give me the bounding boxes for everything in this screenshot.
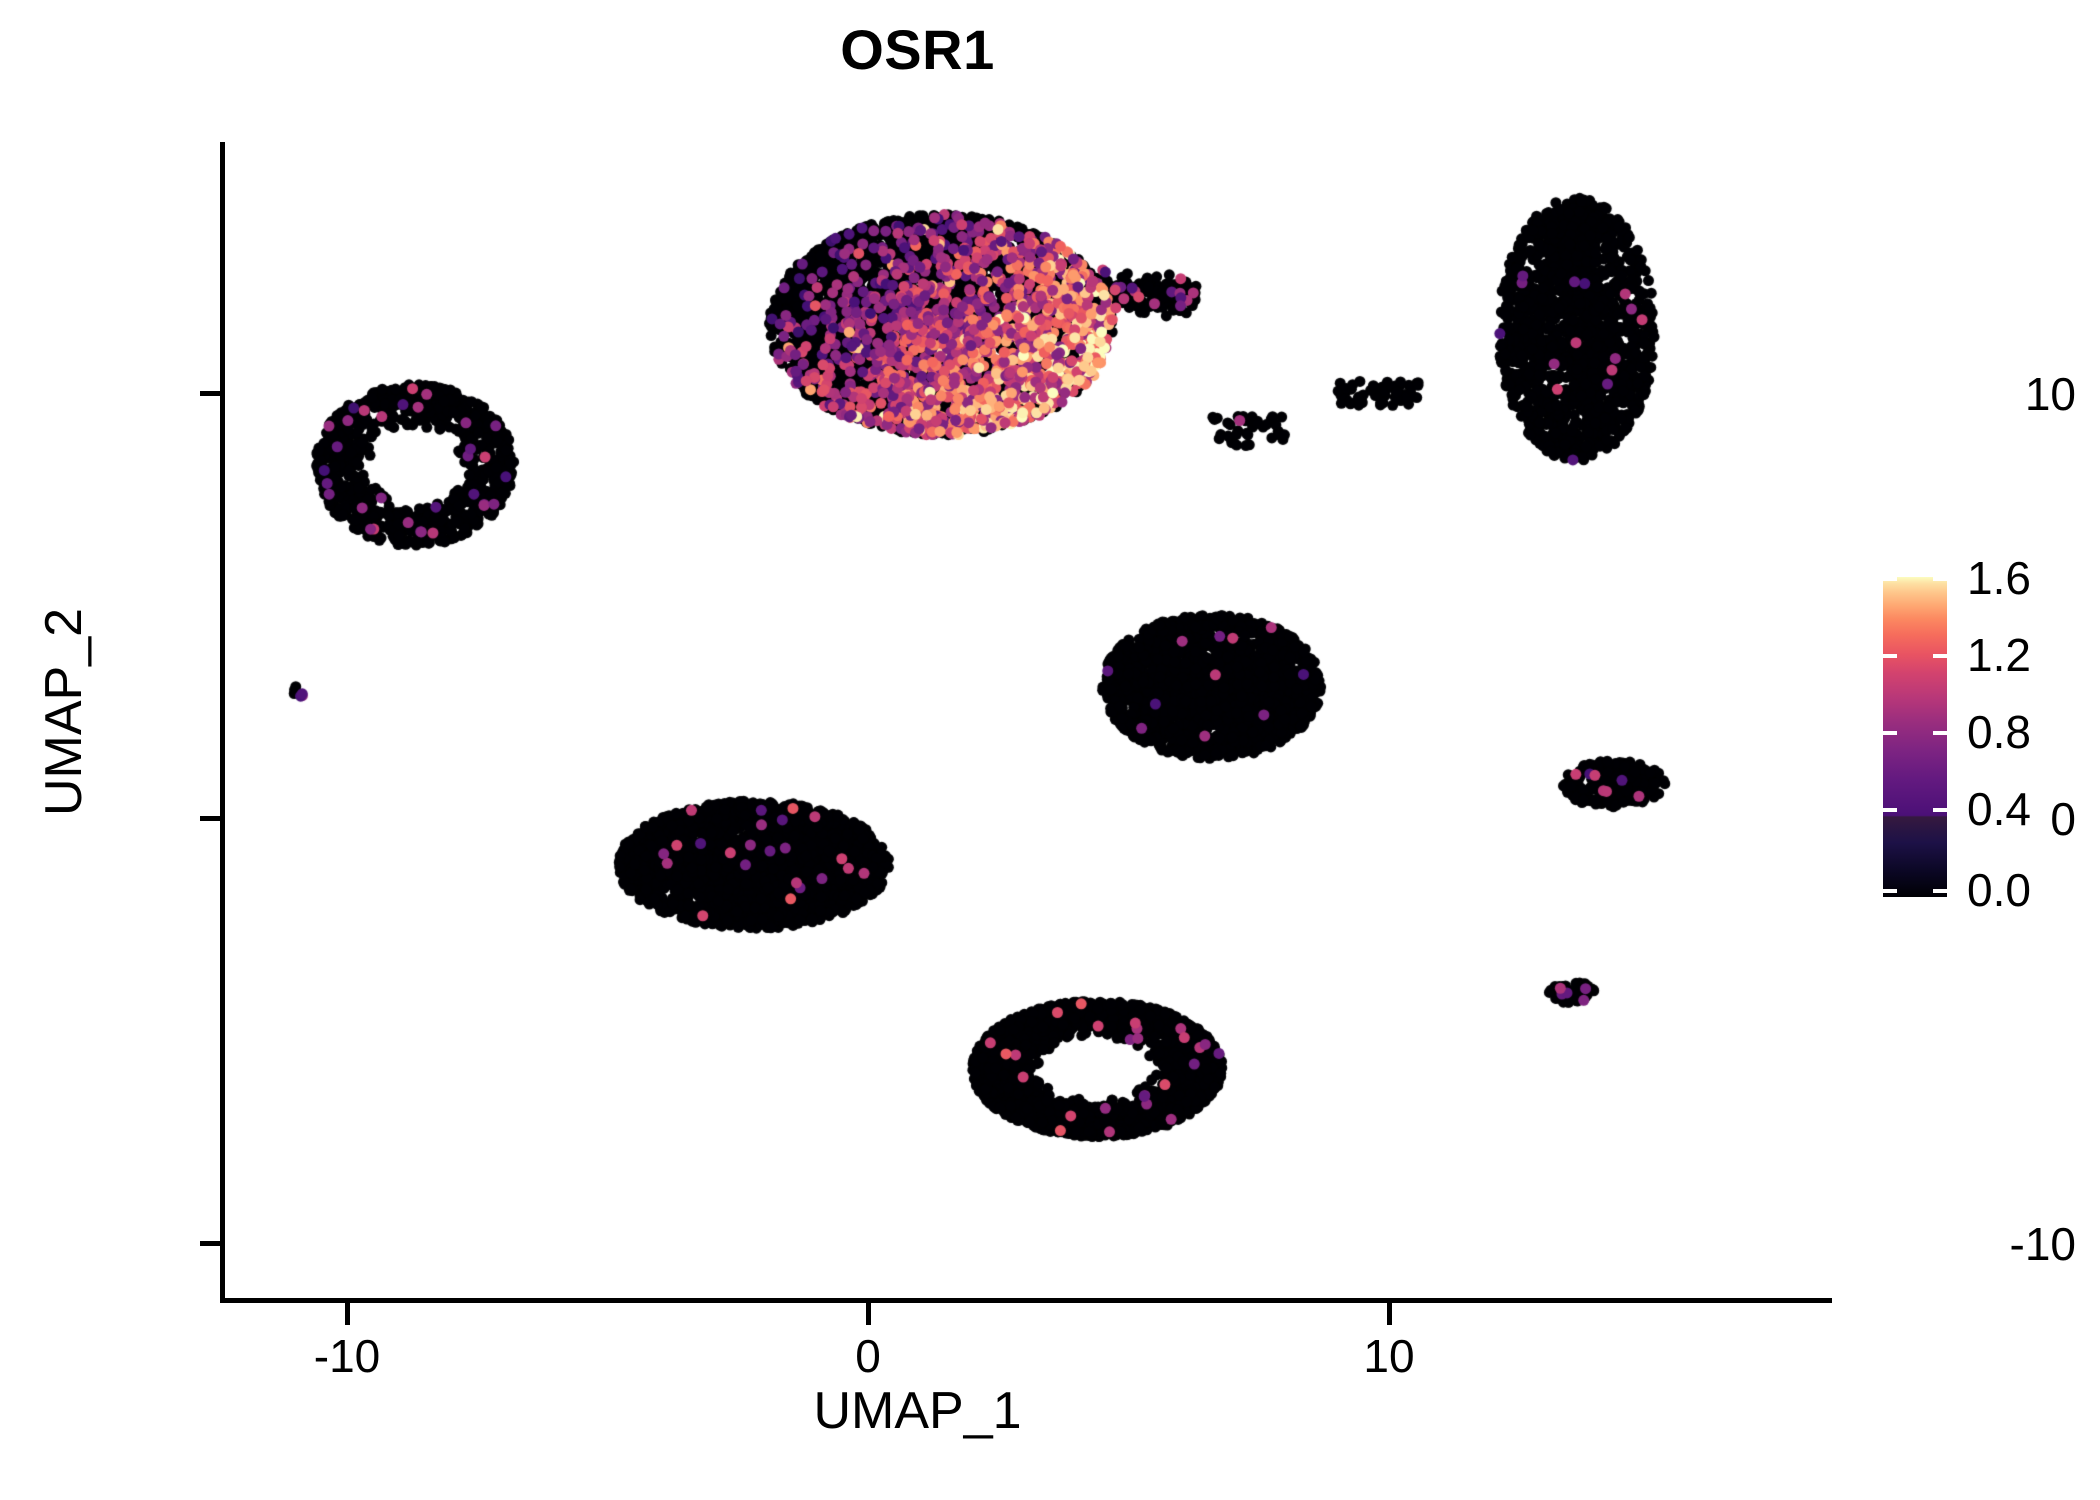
page-title: OSR1 — [0, 22, 1835, 78]
x-tick-label: 10 — [1289, 1333, 1489, 1379]
y-tick-label: -10 — [1886, 1217, 2100, 1271]
y-tick-mark — [200, 816, 222, 821]
umap-feature-plot: OSR1 -10010 -10010 UMAP_1 UMAP_2 1.6 1.2… — [0, 0, 2100, 1500]
x-tick-mark — [1387, 1303, 1392, 1325]
colorbar-label-0-0: 0.0 — [1967, 867, 2031, 913]
colorbar-tick-0-0-left — [1883, 889, 1897, 893]
colorbar-label-1-2: 1.2 — [1967, 632, 2031, 678]
x-axis-line — [220, 1298, 1832, 1303]
colorbar-tick-0-0-right — [1933, 889, 1947, 893]
x-tick-label: -10 — [247, 1333, 447, 1379]
y-axis-line — [220, 142, 225, 1303]
colorbar-tick-0-8-right — [1933, 731, 1947, 735]
colorbar-gradient[interactable] — [1883, 577, 1947, 897]
x-axis-title: UMAP_1 — [0, 1385, 1835, 1437]
colorbar-tick-0-4-left — [1883, 808, 1897, 812]
colorbar-tick-1-6-right — [1933, 577, 1947, 581]
colorbar-tick-1-2-right — [1933, 654, 1947, 658]
colorbar-tick-0-4-right — [1933, 808, 1947, 812]
colorbar-legend[interactable]: 1.6 1.2 0.8 0.4 0.0 — [1883, 577, 2083, 899]
x-tick-mark — [866, 1303, 871, 1325]
y-tick-label: 10 — [1886, 367, 2100, 421]
y-tick-mark — [200, 1241, 222, 1246]
colorbar-label-0-4: 0.4 — [1967, 786, 2031, 832]
y-axis-title: UMAP_2 — [38, 402, 90, 1022]
colorbar-tick-0-8-left — [1883, 731, 1897, 735]
colorbar-tick-1-6-left — [1883, 577, 1897, 581]
colorbar-label-1-6: 1.6 — [1967, 555, 2031, 601]
x-tick-label: 0 — [768, 1333, 968, 1379]
plot-panel[interactable] — [223, 142, 1832, 1300]
scatter-points-canvas[interactable] — [223, 142, 1832, 1300]
colorbar-tick-1-2-left — [1883, 654, 1897, 658]
colorbar-label-0-8: 0.8 — [1967, 709, 2031, 755]
y-tick-mark — [200, 391, 222, 396]
x-tick-mark — [345, 1303, 350, 1325]
